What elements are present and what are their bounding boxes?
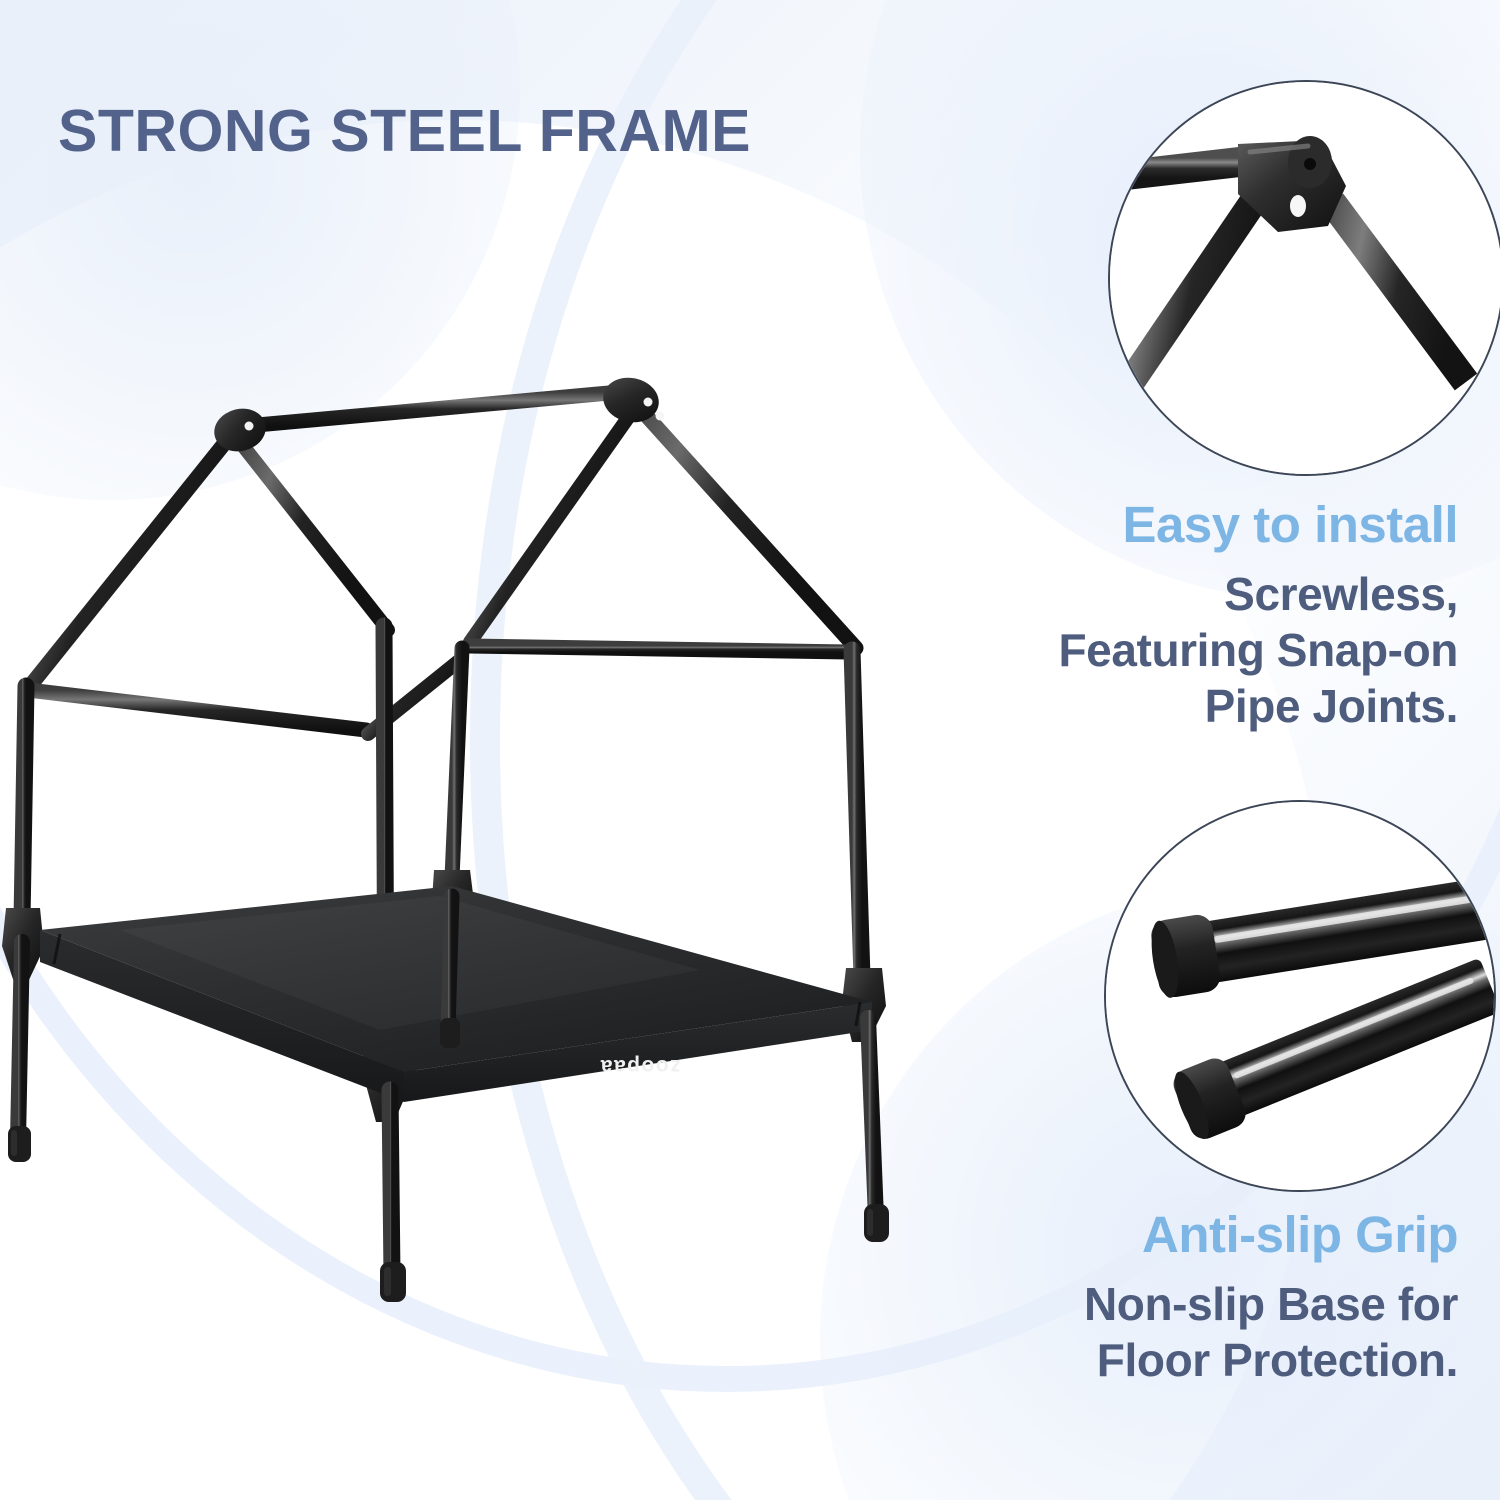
feature-body-line: Non-slip Base for (988, 1276, 1458, 1332)
feature-title-anti-slip-grip: Anti-slip Grip (988, 1208, 1458, 1262)
infographic-page: STRONG STEEL FRAME (0, 0, 1500, 1500)
page-title: STRONG STEEL FRAME (58, 97, 751, 165)
feature-body-easy-to-install: Screwless, Featuring Snap-on Pipe Joints… (988, 566, 1458, 734)
inset-joint-closeup (1108, 80, 1500, 476)
feature-block-easy-to-install: Easy to install Screwless, Featuring Sna… (988, 498, 1458, 734)
feature-body-line: Featuring Snap-on (988, 622, 1458, 678)
inset-pipe-ends-closeup (1104, 800, 1496, 1192)
feature-body-line: Screwless, (988, 566, 1458, 622)
feature-block-anti-slip-grip: Anti-slip Grip Non-slip Base for Floor P… (988, 1208, 1458, 1388)
feature-body-line: Floor Protection. (988, 1332, 1458, 1388)
feature-body-line: Pipe Joints. (988, 678, 1458, 734)
feature-title-easy-to-install: Easy to install (988, 498, 1458, 552)
brand-logo-text: zoopaa (599, 1055, 680, 1078)
product-image-dog-bed: zoopaa (0, 330, 950, 1340)
feature-body-anti-slip-grip: Non-slip Base for Floor Protection. (988, 1276, 1458, 1388)
